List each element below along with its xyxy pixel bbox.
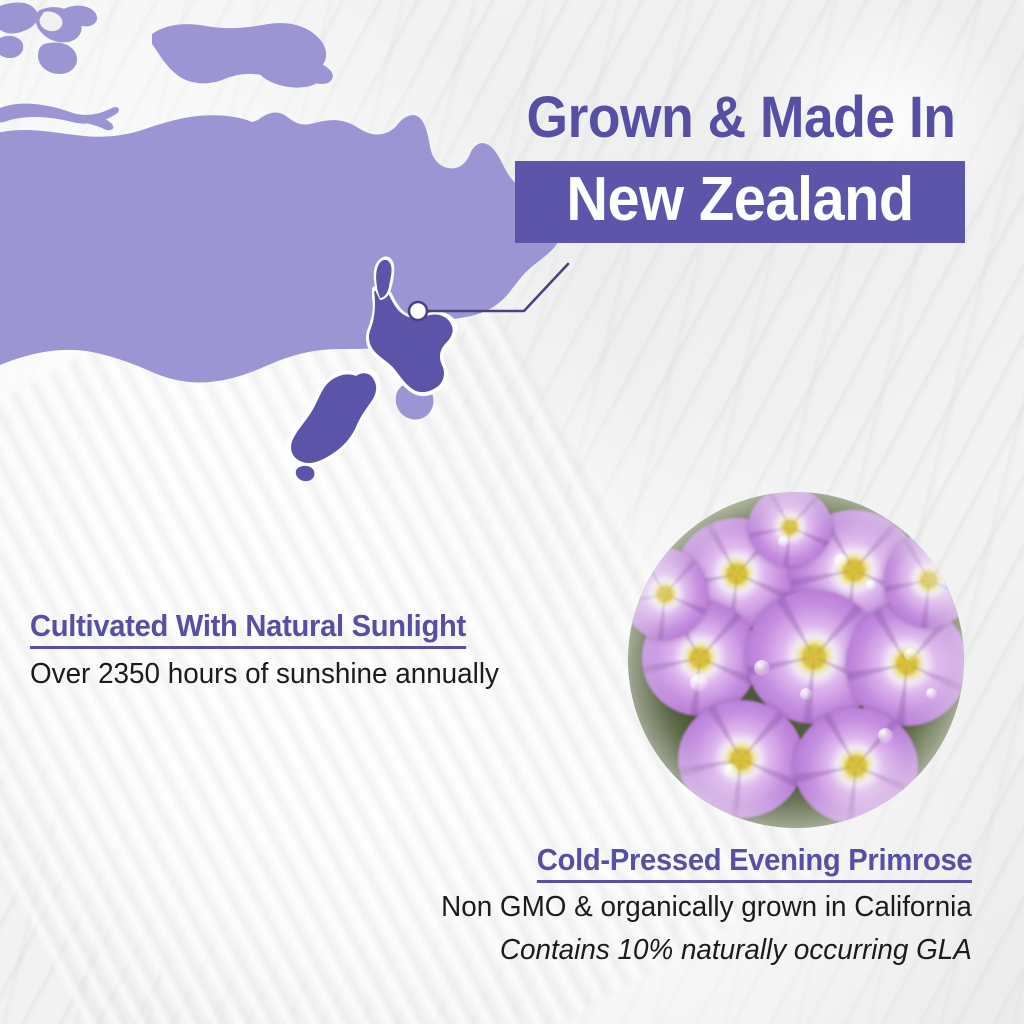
connector-polyline bbox=[426, 264, 568, 311]
flower-blossom bbox=[678, 700, 804, 818]
headline-group: Grown & Made In New Zealand bbox=[506, 88, 976, 243]
feature-block-sunlight: Cultivated With Natural Sunlight Over 23… bbox=[30, 608, 518, 693]
infographic-canvas: Grown & Made In New Zealand bbox=[0, 0, 1024, 1024]
feature-subtitle-primrose: Non GMO & organically grown in Californi… bbox=[441, 889, 972, 927]
water-droplet bbox=[926, 688, 937, 699]
water-droplet bbox=[800, 688, 812, 700]
headline-line-grown-and-made-in: Grown & Made In bbox=[525, 88, 957, 147]
headline-banner-box: New Zealand bbox=[515, 161, 965, 243]
water-droplet bbox=[778, 536, 789, 547]
water-droplet bbox=[724, 764, 738, 778]
water-droplet bbox=[878, 728, 893, 743]
water-droplet bbox=[904, 648, 917, 661]
flower-blossom bbox=[794, 708, 918, 824]
water-droplet bbox=[690, 674, 708, 692]
evening-primrose-flower-photo bbox=[628, 492, 964, 828]
water-droplet bbox=[866, 580, 876, 590]
new-zealand-location-marker bbox=[409, 302, 427, 320]
map-callout-connector bbox=[390, 245, 610, 335]
water-droplet bbox=[834, 554, 848, 568]
map-region-indonesia bbox=[0, 3, 333, 131]
water-droplet bbox=[754, 660, 770, 676]
headline-banner-new-zealand: New Zealand bbox=[540, 169, 940, 231]
feature-title-sunlight: Cultivated With Natural Sunlight bbox=[30, 608, 466, 649]
feature-subtitle-sunlight: Over 2350 hours of sunshine annually bbox=[30, 656, 499, 694]
feature-title-primrose: Cold-Pressed Evening Primrose bbox=[536, 842, 972, 883]
feature-block-primrose: Cold-Pressed Evening Primrose Non GMO & … bbox=[419, 842, 972, 970]
flower-blossom bbox=[884, 532, 964, 628]
feature-note-primrose-gla: Contains 10% naturally occurring GLA bbox=[441, 932, 972, 970]
